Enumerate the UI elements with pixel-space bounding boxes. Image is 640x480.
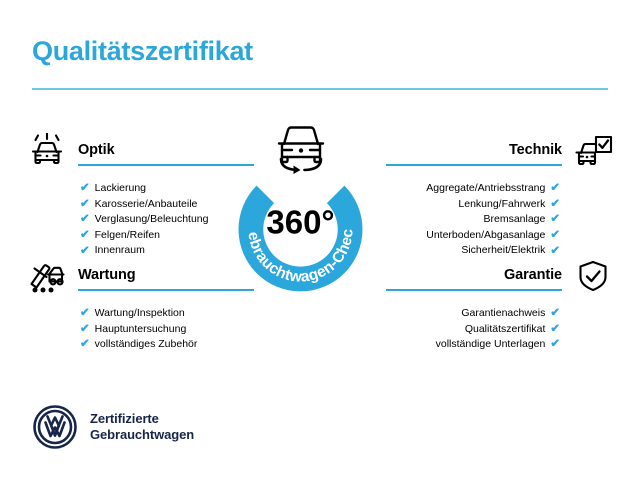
page-title: Qualitätszertifikat	[32, 36, 253, 67]
check-icon: ✔	[80, 324, 90, 335]
check-icon: ✔	[80, 339, 90, 350]
list-item-label: vollständige Unterlagen	[436, 337, 546, 353]
footer-line-2: Gebrauchtwagen	[90, 427, 194, 444]
list-item-label: vollständiges Zubehör	[95, 337, 198, 353]
list-item: ✔Wartung/Inspektion	[80, 306, 254, 322]
section-title: Technik	[386, 142, 562, 158]
section-technik: Technik Aggregate/Antriebsstrang✔ Lenkun…	[386, 130, 616, 275]
list-item-label: Felgen/Reifen	[95, 228, 160, 244]
footer-line-1: Zertifizierte	[90, 411, 194, 428]
volkswagen-logo	[32, 404, 78, 450]
list-item-label: Aggregate/Antriebsstrang	[426, 181, 545, 197]
list-item-label: Bremsanlage	[483, 212, 545, 228]
check-icon: ✔	[550, 230, 560, 241]
section-garantie: Garantie Garantienachweis✔ Qualitätszert…	[386, 255, 616, 369]
checklist-technik: Aggregate/Antriebsstrang✔ Lenkung/Fahrwe…	[386, 181, 616, 259]
list-item-label: Karosserie/Anbauteile	[95, 197, 198, 213]
list-item: Unterboden/Abgasanlage✔	[386, 228, 560, 244]
list-item-label: Lackierung	[95, 181, 146, 197]
check-icon: ✔	[550, 199, 560, 210]
check-icon: ✔	[550, 214, 560, 225]
shiny-car-icon	[24, 130, 70, 172]
footer-text: Zertifizierte Gebrauchtwagen	[90, 411, 194, 444]
check-icon: ✔	[550, 324, 560, 335]
check-icon: ✔	[80, 214, 90, 225]
list-item-label: Hauptuntersuchung	[95, 322, 187, 338]
section-divider	[386, 164, 562, 166]
check-icon: ✔	[80, 308, 90, 319]
list-item: Garantienachweis✔	[386, 306, 560, 322]
check-icon: ✔	[550, 339, 560, 350]
section-divider	[386, 289, 562, 291]
list-item: ✔vollständiges Zubehör	[80, 337, 254, 353]
checklist-optik: ✔Lackierung ✔Karosserie/Anbauteile ✔Verg…	[24, 181, 254, 259]
footer-brand: Zertifizierte Gebrauchtwagen	[32, 404, 194, 450]
list-item-label: Qualitätszertifikat	[465, 322, 546, 338]
check-icon: ✔	[80, 230, 90, 241]
list-item-label: Lenkung/Fahrwerk	[458, 197, 545, 213]
car-checkbox-icon	[570, 130, 616, 172]
list-item-label: Unterboden/Abgasanlage	[426, 228, 545, 244]
shield-check-icon	[570, 255, 616, 297]
checklist-garantie: Garantienachweis✔ Qualitätszertifikat✔ v…	[386, 306, 616, 353]
list-item: Lenkung/Fahrwerk✔	[386, 197, 560, 213]
gebrauchtwagen-check-badge: Gebrauchtwagen-Check 360°	[223, 152, 378, 307]
check-icon: ✔	[80, 199, 90, 210]
check-icon: ✔	[80, 183, 90, 194]
section-optik: Optik ✔Lackierung ✔Karosserie/Anbauteile…	[24, 130, 254, 275]
section-title: Garantie	[386, 267, 562, 283]
list-item: Qualitätszertifikat✔	[386, 322, 560, 338]
list-item: vollständige Unterlagen✔	[386, 337, 560, 353]
list-item: Bremsanlage✔	[386, 212, 560, 228]
section-wartung: Wartung ✔Wartung/Inspektion ✔Hauptunters…	[24, 255, 254, 369]
car-rotation-icon	[265, 119, 337, 174]
car-lift-icon	[24, 255, 70, 297]
check-icon: ✔	[550, 183, 560, 194]
list-item-label: Verglasung/Beleuchtung	[95, 212, 209, 228]
list-item-label: Wartung/Inspektion	[95, 306, 185, 322]
badge-center-label: 360°	[266, 204, 334, 241]
title-divider	[32, 88, 608, 90]
checklist-wartung: ✔Wartung/Inspektion ✔Hauptuntersuchung ✔…	[24, 306, 254, 353]
list-item: Aggregate/Antriebsstrang✔	[386, 181, 560, 197]
list-item-label: Garantienachweis	[461, 306, 545, 322]
list-item: ✔Hauptuntersuchung	[80, 322, 254, 338]
check-icon: ✔	[550, 308, 560, 319]
